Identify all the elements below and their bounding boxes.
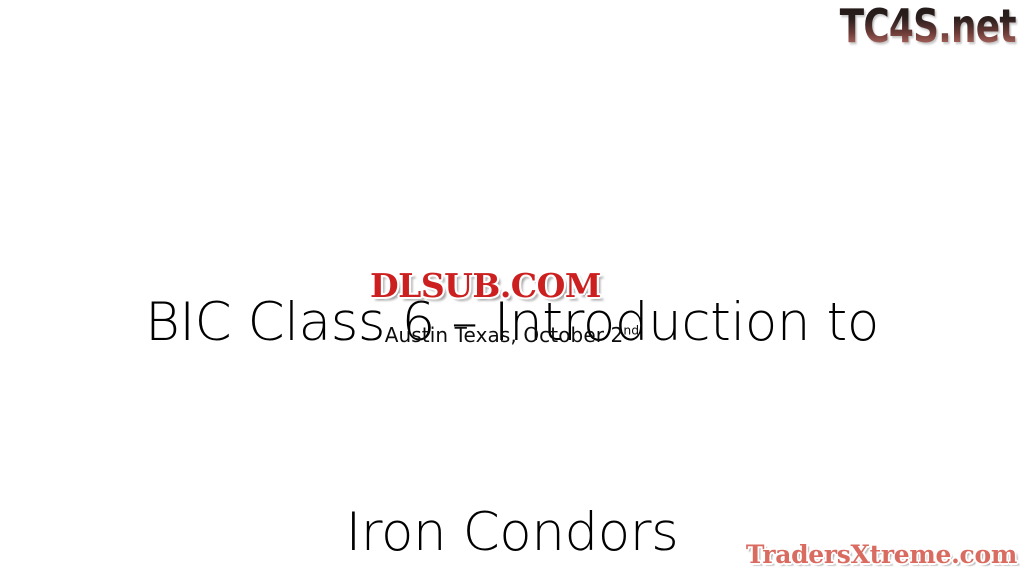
- slide-subtitle-text: Austin Texas, October 2: [385, 323, 624, 347]
- presentation-slide: TC4S.net BIC Class 6 – Introduction to I…: [0, 0, 1024, 576]
- slide-subtitle-ordinal: nd: [623, 322, 639, 337]
- watermark-dlsub-com: DLSUB.COM: [370, 268, 601, 304]
- watermark-tc4s-net: TC4S.net: [840, 2, 1016, 50]
- slide-subtitle: Austin Texas, October 2nd: [0, 322, 1024, 348]
- slide-title: BIC Class 6 – Introduction to Iron Condo…: [0, 148, 1024, 576]
- watermark-tradersxtreme-com: TradersXtreme.com: [746, 541, 1017, 569]
